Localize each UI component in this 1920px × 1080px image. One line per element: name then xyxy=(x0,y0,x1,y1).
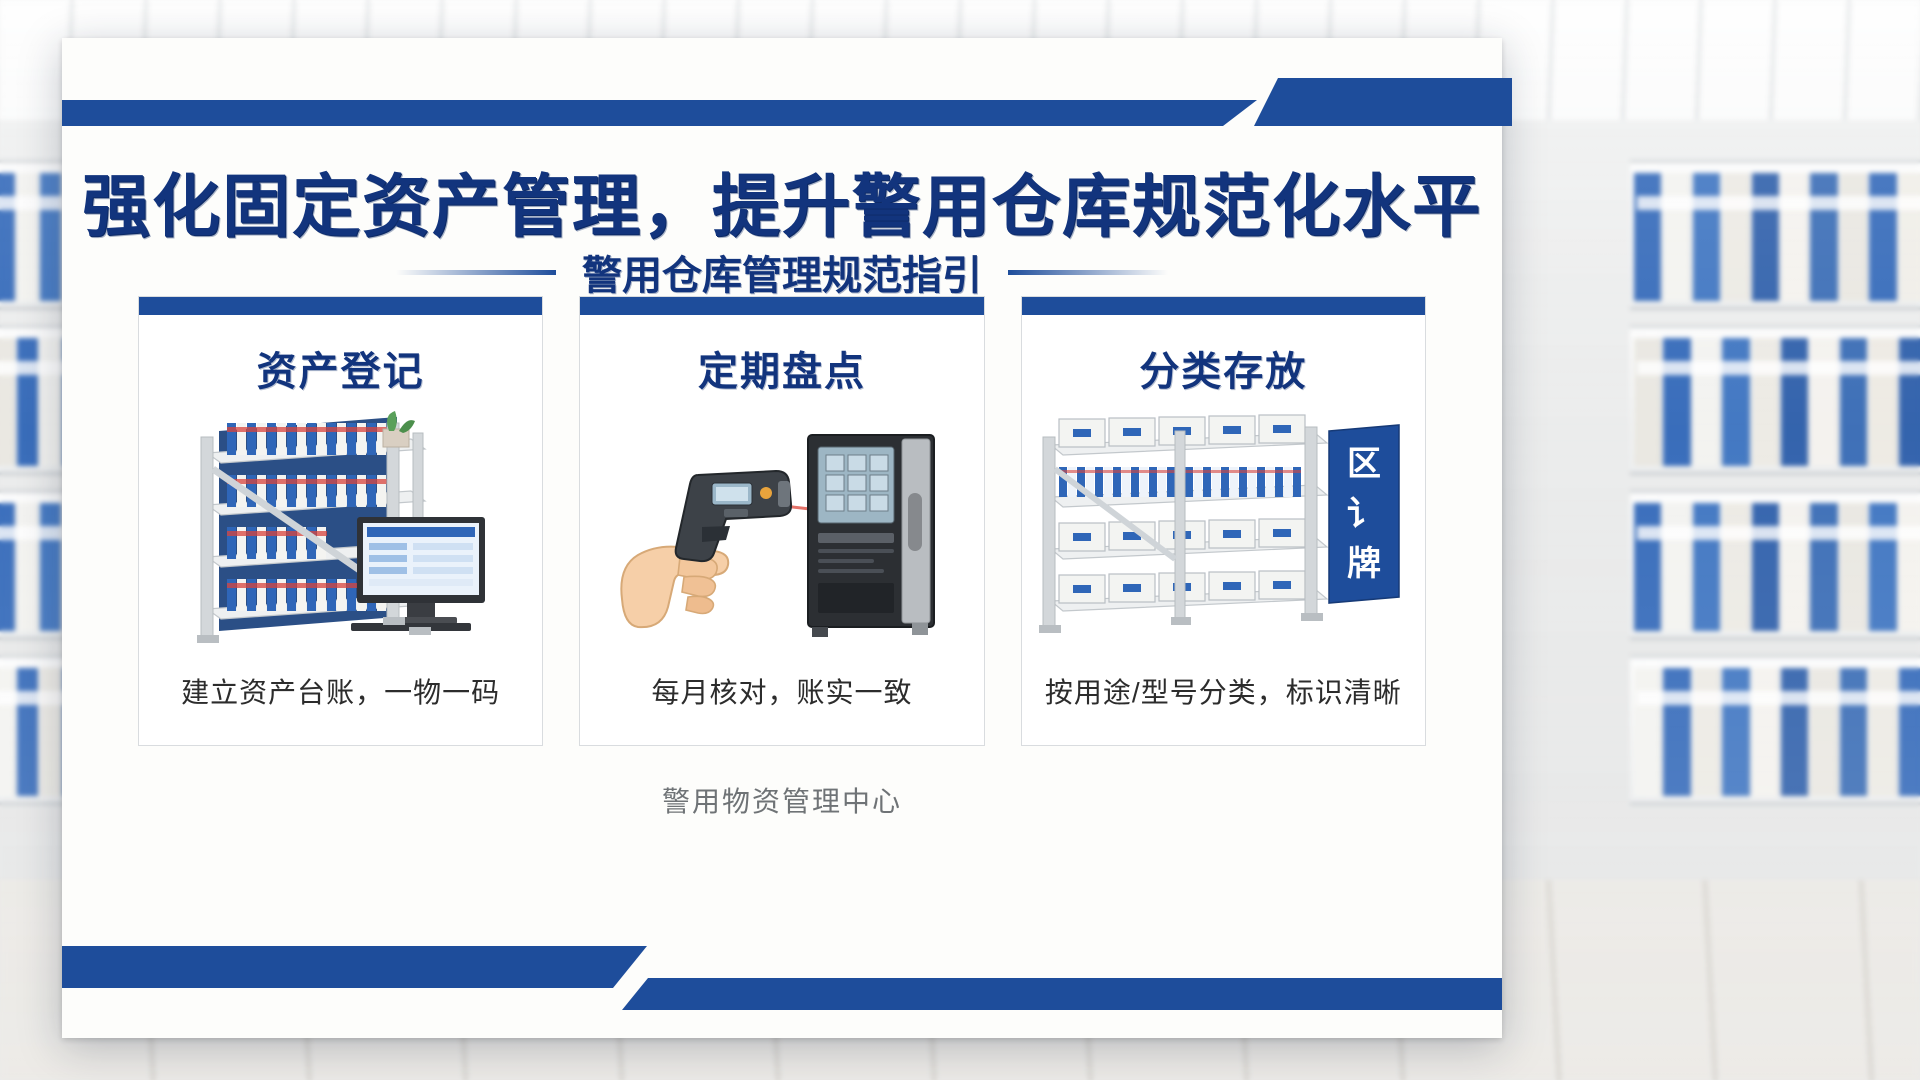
card-classified-storage[interactable]: 分类存放 xyxy=(1021,296,1426,746)
zone-sign-char-3: 牌 xyxy=(1347,545,1381,583)
card-title: 分类存放 xyxy=(1139,339,1307,397)
storage-cabinet-icon xyxy=(808,435,934,637)
footer-bar-left xyxy=(62,946,647,988)
card-list: 资产登记 xyxy=(138,296,1426,746)
card-caption: 每月核对，账实一致 xyxy=(651,671,912,745)
card-caption: 建立资产台账，一物一码 xyxy=(181,671,500,745)
header-decoration xyxy=(62,90,1502,128)
header-bar-accent xyxy=(1254,78,1512,126)
subtitle-rule-right xyxy=(1008,270,1168,275)
shelf-zone-sign-icon: 区 讠 牌 xyxy=(1033,409,1413,659)
zone-sign: 区 讠 牌 xyxy=(1329,425,1399,603)
scanner-cabinet-icon xyxy=(602,409,962,659)
shelf-with-zone-sign-illustration: 区 讠 牌 xyxy=(1022,397,1425,671)
card-cap-bar xyxy=(580,297,983,315)
hand-icon xyxy=(621,547,728,628)
infrared-thermometer-icon xyxy=(676,471,791,561)
shelf-with-monitor-illustration xyxy=(139,397,542,671)
footer-decoration xyxy=(62,946,1502,1010)
card-caption: 按用途/型号分类，标识清晰 xyxy=(1045,671,1402,745)
zone-sign-char-2: 讠 xyxy=(1347,495,1381,533)
card-periodic-inventory[interactable]: 定期盘点 xyxy=(579,296,984,746)
zone-sign-char-1: 区 xyxy=(1347,445,1381,483)
shelf-monitor-icon xyxy=(161,409,521,659)
footer-bar-right xyxy=(622,978,1502,1010)
header-bar-main xyxy=(62,100,1257,126)
card-asset-registration[interactable]: 资产登记 xyxy=(138,296,543,746)
subtitle-row: 警用仓库管理规范指引 xyxy=(62,243,1502,301)
hand-scanner-cabinet-illustration xyxy=(580,397,983,671)
card-cap-bar xyxy=(139,297,542,315)
card-cap-bar xyxy=(1022,297,1425,315)
poster-board: 强化固定资产管理，提升警用仓库规范化水平 警用仓库管理规范指引 资产登记 xyxy=(62,38,1502,1038)
footer-organization: 警用物资管理中心 xyxy=(62,780,1502,820)
card-title: 定期盘点 xyxy=(698,339,866,397)
card-title: 资产登记 xyxy=(257,339,425,397)
subtitle-rule-left xyxy=(396,270,556,275)
page-title: 强化固定资产管理，提升警用仓库规范化水平 xyxy=(62,151,1502,250)
page-subtitle: 警用仓库管理规范指引 xyxy=(582,243,982,301)
